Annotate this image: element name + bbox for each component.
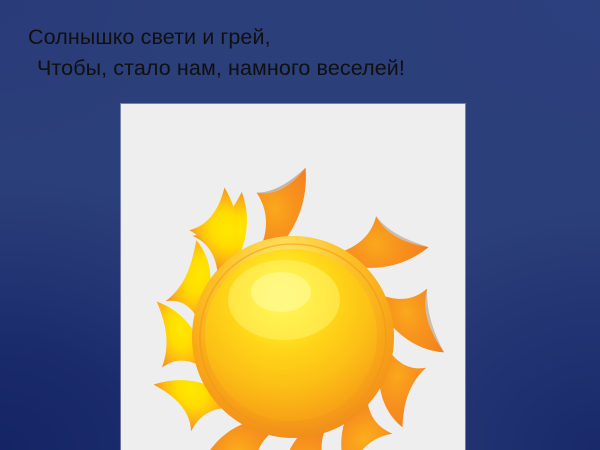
picture-panel: [121, 104, 465, 450]
sun-disc: [192, 236, 394, 438]
title-line-2: Чтобы, стало нам, намного веселей!: [28, 53, 573, 84]
presentation-slide: Солнышко свети и грей, Чтобы, стало нам,…: [0, 0, 600, 450]
sun-icon: [121, 104, 465, 450]
sun-core-glint: [251, 272, 311, 312]
title-line-1: Солнышко свети и грей,: [28, 22, 573, 53]
page-title: Солнышко свети и грей, Чтобы, стало нам,…: [28, 22, 573, 83]
